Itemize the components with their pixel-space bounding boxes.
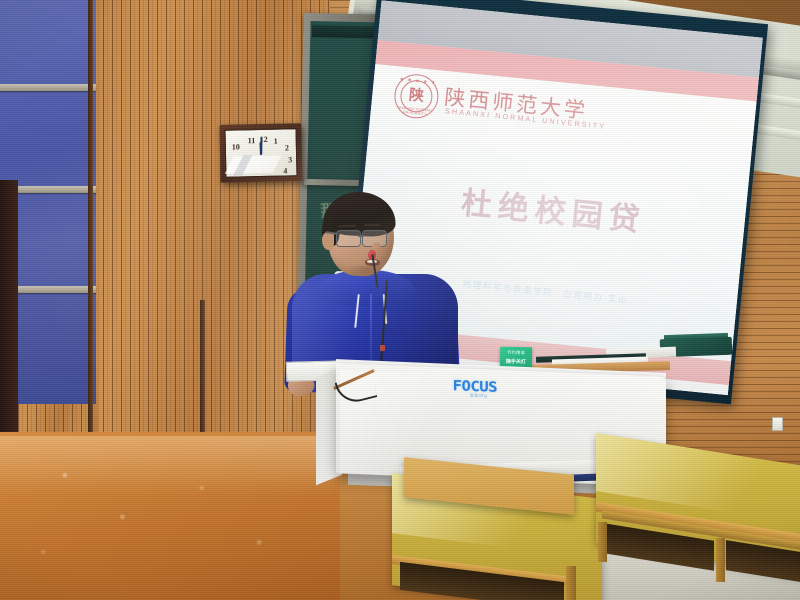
speaker-chin-shadow: [348, 266, 384, 278]
podium-brand-sublabel: 智能讲台: [470, 393, 488, 400]
wall-batten-1: [0, 84, 96, 91]
clock-face: 10 11 12 1 2 3 4: [225, 128, 298, 177]
university-seal-icon: ★ ★ ★ ★ ★ 陕 SHAANXI NORMAL UNIVERSITY: [392, 72, 440, 120]
clock-number-10: 10: [232, 143, 240, 151]
lecture-hall-photo: 那你 ／ 10 11 12 1 2 3 4: [0, 0, 800, 600]
desk-leg-left: [598, 522, 607, 562]
clock-number-2: 2: [285, 144, 289, 152]
clock-number-1: 1: [274, 138, 278, 146]
speaker: [286, 188, 462, 388]
seal-character: 陕: [408, 88, 424, 104]
clock-number-11: 11: [248, 137, 256, 145]
sign-line-1: 节约用电: [500, 350, 532, 357]
glasses-bridge: [358, 235, 364, 237]
clock-number-4: 4: [283, 167, 287, 175]
desk-leg: [566, 566, 576, 600]
glasses-lens-left: [336, 230, 361, 247]
panel-seam-left: [88, 0, 93, 480]
speaker-ear: [322, 232, 334, 250]
stage-floor-speckles: [0, 440, 360, 600]
microphone-clip: [380, 345, 385, 351]
clock-number-3: 3: [288, 156, 292, 164]
sign-line-2: 随手关灯: [500, 358, 532, 366]
desk-leg-mid: [716, 538, 725, 582]
clock-minute-hand: [260, 137, 262, 155]
wall-clock: 10 11 12 1 2 3 4: [219, 123, 302, 183]
clock-glass-glare: [225, 156, 282, 174]
light-switch[interactable]: [772, 417, 783, 431]
